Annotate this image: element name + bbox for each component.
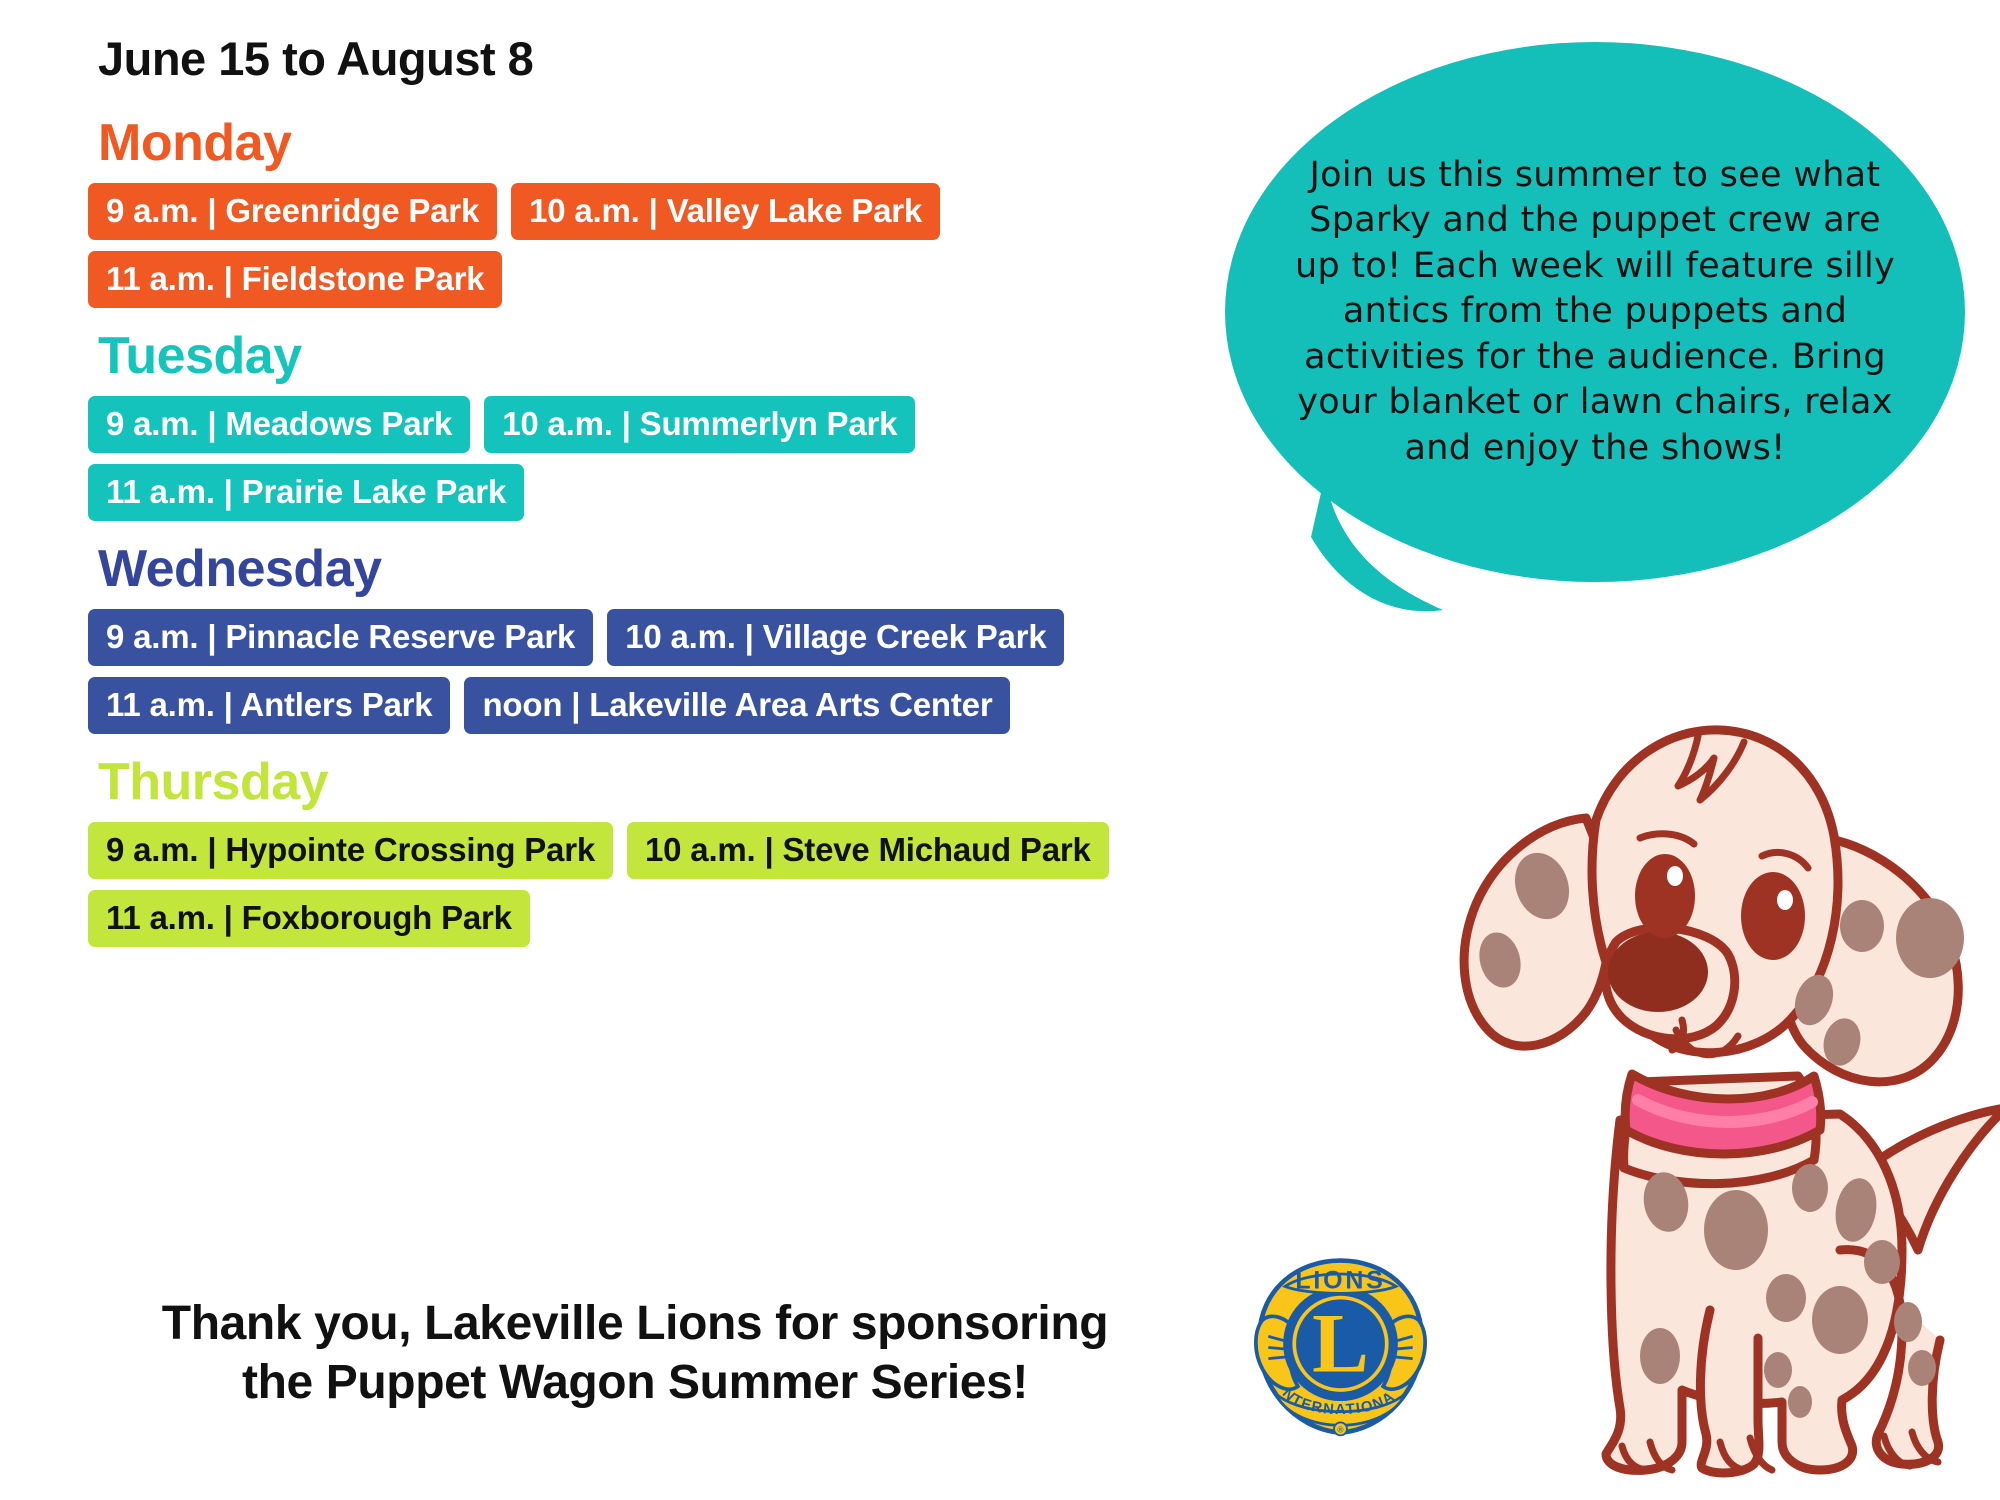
speech-bubble-body: Join us this summer to see what Sparky a… bbox=[1225, 42, 1965, 582]
schedule-pill[interactable]: noon | Lakeville Area Arts Center bbox=[464, 677, 1010, 734]
logo-center-letter: L bbox=[1312, 1297, 1369, 1391]
schedule-pill[interactable]: 10 a.m. | Village Creek Park bbox=[607, 609, 1064, 666]
schedule-pill[interactable]: 9 a.m. | Meadows Park bbox=[88, 396, 470, 453]
pill-row: 11 a.m. | Foxborough Park bbox=[88, 890, 1288, 947]
page-title: June 15 to August 8 bbox=[88, 34, 1288, 83]
schedule-panel: June 15 to August 8 Monday9 a.m. | Green… bbox=[88, 34, 1288, 969]
schedule-pill[interactable]: 11 a.m. | Fieldstone Park bbox=[88, 251, 502, 308]
schedule-pill[interactable]: 9 a.m. | Greenridge Park bbox=[88, 183, 497, 240]
day-block-wednesday: Wednesday9 a.m. | Pinnacle Reserve Park1… bbox=[88, 543, 1288, 734]
pill-row: 9 a.m. | Hypointe Crossing Park10 a.m. |… bbox=[88, 822, 1288, 879]
day-blocks-container: Monday9 a.m. | Greenridge Park10 a.m. | … bbox=[88, 117, 1288, 947]
lions-international-logo: L LIONS INTERNATIONAL ® bbox=[1248, 1255, 1433, 1440]
pill-row: 9 a.m. | Pinnacle Reserve Park10 a.m. | … bbox=[88, 609, 1288, 666]
schedule-pill[interactable]: 11 a.m. | Prairie Lake Park bbox=[88, 464, 524, 521]
logo-top-text: LIONS bbox=[1295, 1266, 1385, 1294]
dalmatian-puppy-illustration bbox=[1410, 690, 2000, 1490]
pill-row: 11 a.m. | Fieldstone Park bbox=[88, 251, 1288, 308]
day-heading-thursday: Thursday bbox=[88, 756, 1288, 808]
speech-bubble-text: Join us this summer to see what Sparky a… bbox=[1290, 153, 1900, 472]
logo-registered-mark: ® bbox=[1337, 1425, 1343, 1435]
thanks-line-1: Thank you, Lakeville Lions for sponsorin… bbox=[162, 1297, 1108, 1350]
schedule-pill[interactable]: 10 a.m. | Valley Lake Park bbox=[511, 183, 940, 240]
sponsor-thank-you: Thank you, Lakeville Lions for sponsorin… bbox=[55, 1295, 1215, 1412]
pill-row: 11 a.m. | Prairie Lake Park bbox=[88, 464, 1288, 521]
schedule-pill[interactable]: 10 a.m. | Steve Michaud Park bbox=[627, 822, 1109, 879]
schedule-pill[interactable]: 9 a.m. | Hypointe Crossing Park bbox=[88, 822, 613, 879]
thanks-line-2: the Puppet Wagon Summer Series! bbox=[55, 1354, 1215, 1413]
day-heading-monday: Monday bbox=[88, 117, 1288, 169]
schedule-pill[interactable]: 11 a.m. | Antlers Park bbox=[88, 677, 450, 734]
schedule-pill[interactable]: 9 a.m. | Pinnacle Reserve Park bbox=[88, 609, 593, 666]
speech-bubble: Join us this summer to see what Sparky a… bbox=[1195, 30, 1985, 690]
day-heading-wednesday: Wednesday bbox=[88, 543, 1288, 595]
day-block-tuesday: Tuesday9 a.m. | Meadows Park10 a.m. | Su… bbox=[88, 330, 1288, 521]
pill-row: 9 a.m. | Meadows Park10 a.m. | Summerlyn… bbox=[88, 396, 1288, 453]
pill-row: 9 a.m. | Greenridge Park10 a.m. | Valley… bbox=[88, 183, 1288, 240]
pill-row: 11 a.m. | Antlers Parknoon | Lakeville A… bbox=[88, 677, 1288, 734]
day-block-thursday: Thursday9 a.m. | Hypointe Crossing Park1… bbox=[88, 756, 1288, 947]
schedule-pill[interactable]: 10 a.m. | Summerlyn Park bbox=[484, 396, 915, 453]
schedule-pill[interactable]: 11 a.m. | Foxborough Park bbox=[88, 890, 530, 947]
day-heading-tuesday: Tuesday bbox=[88, 330, 1288, 382]
day-block-monday: Monday9 a.m. | Greenridge Park10 a.m. | … bbox=[88, 117, 1288, 308]
